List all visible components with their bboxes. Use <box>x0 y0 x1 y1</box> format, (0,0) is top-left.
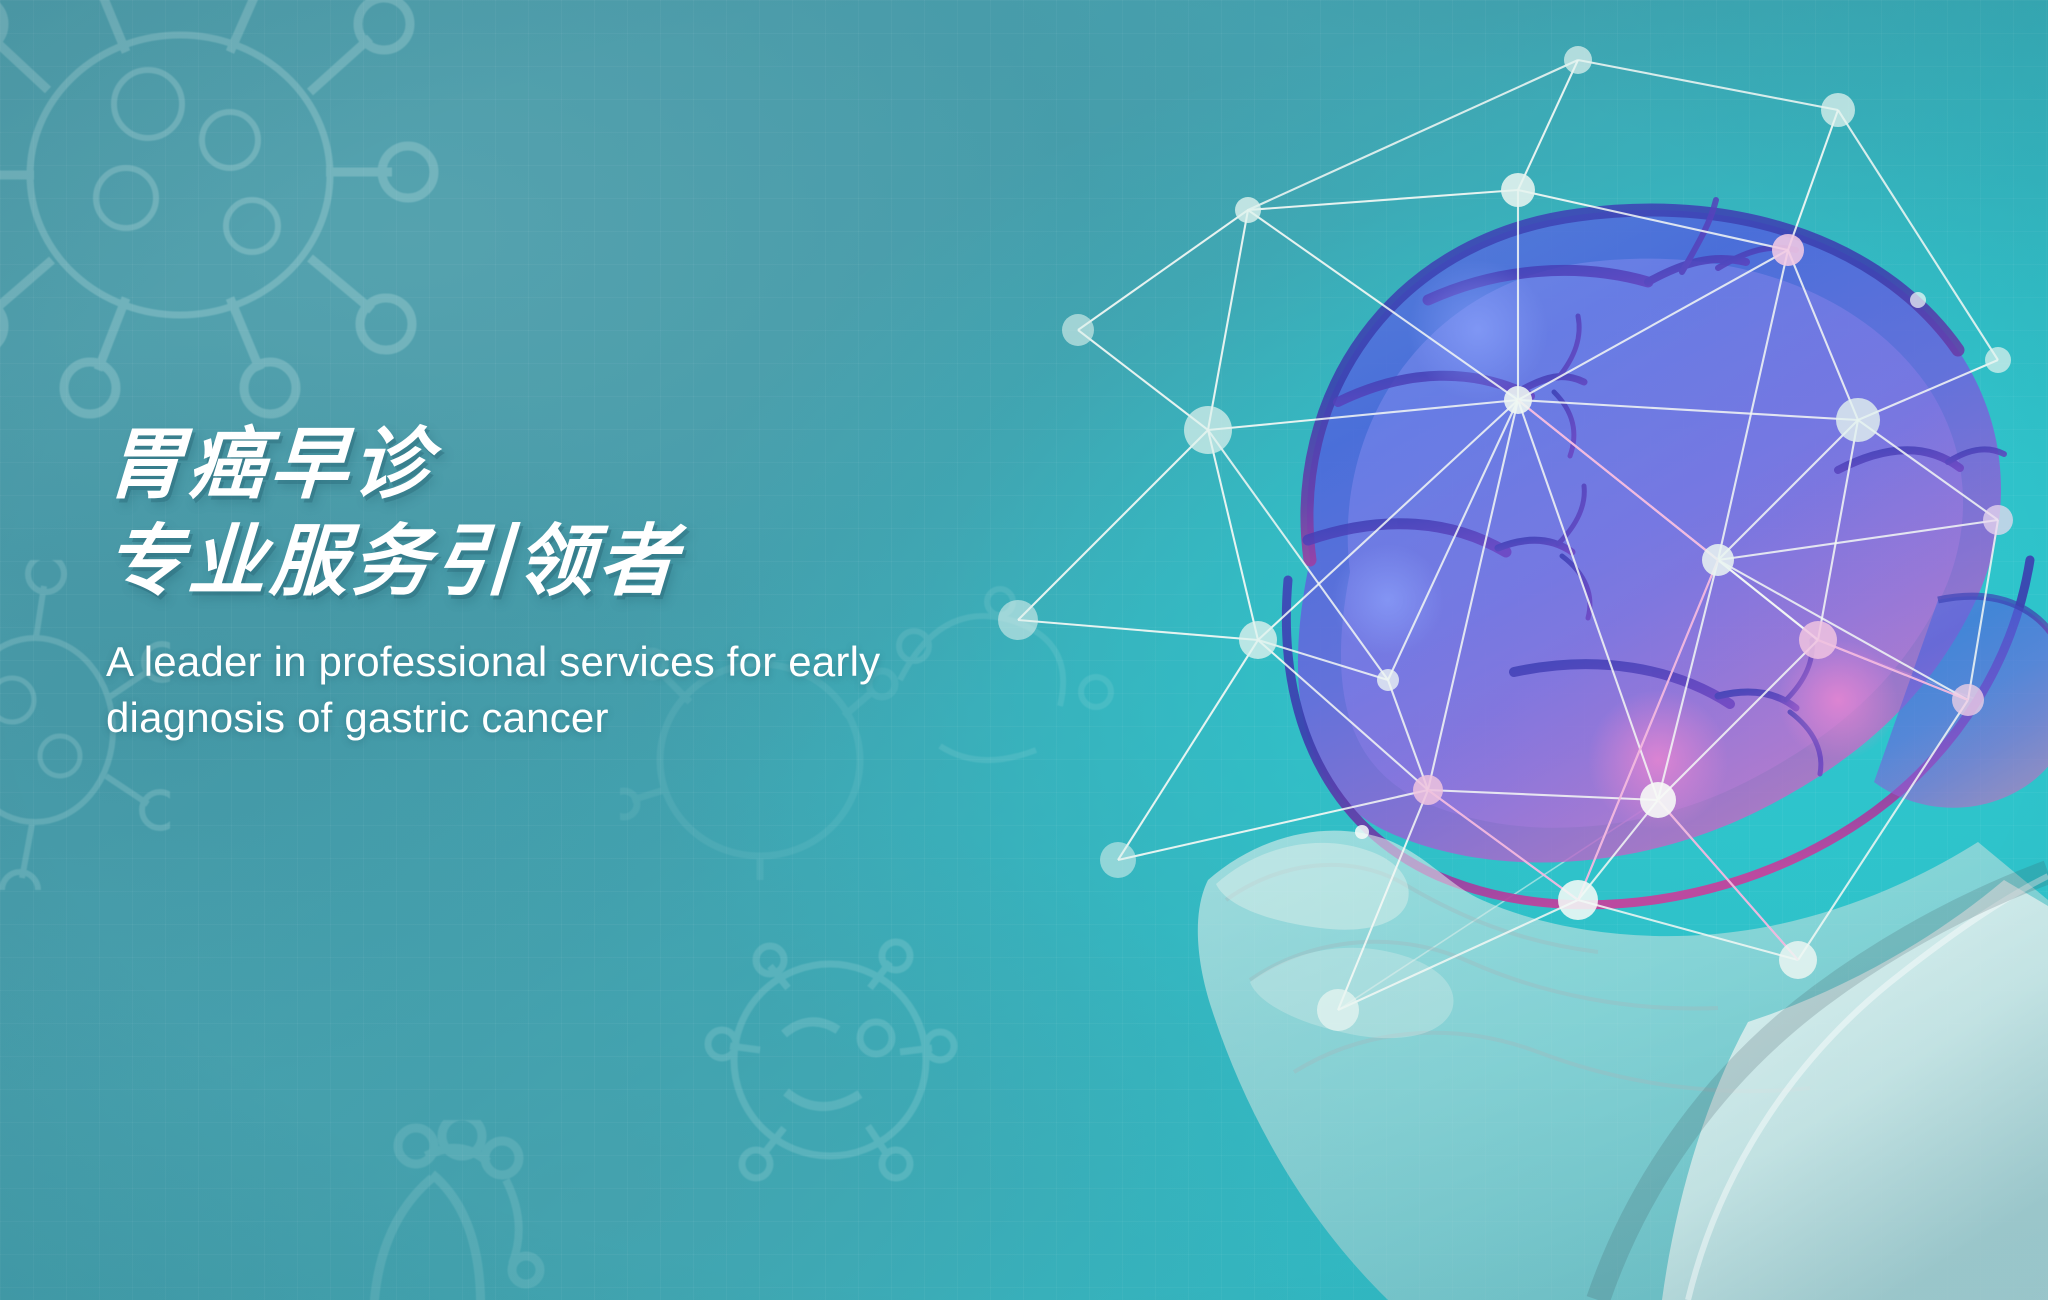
subtitle-line-2: diagnosis of gastric cancer <box>106 690 1106 746</box>
headline-line-2: 专业服务引领者 <box>104 517 1129 606</box>
headline-block: 胃癌早诊 专业服务引领者 A leader in professional se… <box>106 420 1126 746</box>
banner-root: 胃癌早诊 专业服务引领者 A leader in professional se… <box>0 0 2048 1300</box>
headline-line-1: 胃癌早诊 <box>104 420 1129 509</box>
subtitle-line-1: A leader in professional services for ea… <box>106 634 1106 690</box>
subtitle-block: A leader in professional services for ea… <box>106 634 1106 746</box>
